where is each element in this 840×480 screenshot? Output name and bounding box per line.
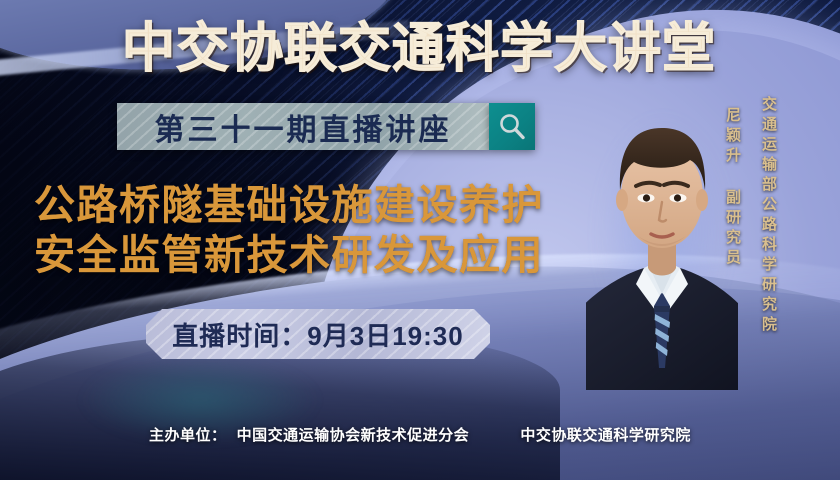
footer-org-2: 中交协联交通科学研究院 [520,427,691,444]
search-icon [498,112,526,141]
portrait-image [586,78,738,390]
episode-banner: 第三十一期直播讲座 [117,103,489,150]
schedule-chip: 直播时间：9月3日19:30 [146,309,490,359]
footer-organizers: 主办单位：中国交通运输协会新技术促进分会 中交协联交通科学研究院 [0,424,840,445]
search-icon-box[interactable] [489,103,535,150]
lecture-title-line2: 安全监管新技术研发及应用 [34,230,594,280]
schedule-label: 直播时间：9月3日19:30 [146,309,490,359]
speaker-portrait [586,78,738,390]
speaker-organization: 交通运输部公路科学研究院 [758,96,779,336]
speaker-name-title: 尼颖升 副研究员 [722,107,743,269]
footer-org-1: 中国交通运输协会新技术促进分会 [237,427,470,444]
lecture-title: 公路桥隧基础设施建设养护 安全监管新技术研发及应用 [34,180,594,280]
webinar-poster: 中交协联交通科学大讲堂 第三十一期直播讲座 公路桥隧基础设施建设养护 安全监管新… [0,0,840,480]
footer-prefix: 主办单位： [149,427,227,444]
lecture-title-line1: 公路桥隧基础设施建设养护 [34,180,594,230]
episode-label: 第三十一期直播讲座 [117,103,489,150]
